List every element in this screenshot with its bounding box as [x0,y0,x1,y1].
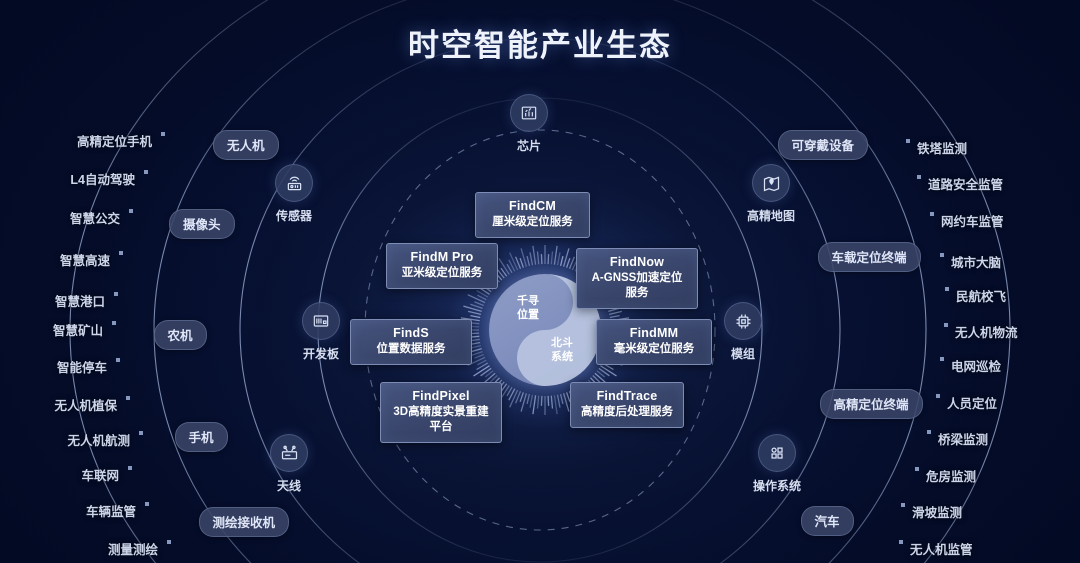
application-label: 智慧矿山 [53,320,103,339]
label-dot-marker [144,170,148,174]
application-label: L4自动驾驶 [70,169,135,188]
application-label: 无人机监管 [910,539,973,558]
icon-node-label: 天线 [252,477,326,494]
icon-node-sensor[interactable]: 传感器 [257,164,331,224]
product-card-findpixel[interactable]: FindPixel3D高精度实景重建平台 [380,382,502,443]
application-label: 无人机植保 [54,395,117,414]
label-dot-marker [944,323,948,327]
icon-node-label: 芯片 [492,137,566,154]
label-dot-marker [145,502,149,506]
product-card-findmm[interactable]: FindMM毫米级定位服务 [596,319,712,365]
icon-node-label: 高精地图 [734,207,808,224]
application-label: 车联网 [81,465,119,484]
label-dot-marker [936,394,940,398]
icon-node-label: 模组 [706,345,780,362]
label-dot-marker [167,540,171,544]
application-label: 民航校飞 [956,286,1006,305]
icon-node-map-pin[interactable]: 高精地图 [734,164,808,224]
application-label: 滑坡监测 [912,502,962,521]
core-top-label: 千寻 位置 [505,294,551,322]
product-card-name: FindS [361,326,461,341]
sensor-icon [275,164,313,202]
application-label: 电网巡检 [951,356,1001,375]
application-label: 无人机物流 [955,322,1018,341]
label-dot-marker [116,358,120,362]
product-card-name: FindMM [607,326,701,341]
core-top-line1: 千寻 [517,295,539,307]
label-dot-marker [906,139,910,143]
module-icon [724,302,762,340]
icon-node-label: 开发板 [284,345,358,362]
product-card-name: FindCM [486,199,579,214]
application-label: 智慧公交 [70,208,120,227]
product-card-name: FindNow [587,255,687,270]
page-title: 时空智能产业生态 [0,20,1080,65]
application-label: 智能停车 [57,357,107,376]
category-pill[interactable]: 可穿戴设备 [778,130,869,160]
core-bottom-line2: 系统 [551,351,573,363]
label-dot-marker [945,287,949,291]
application-label: 道路安全监管 [928,174,1003,193]
category-pill[interactable]: 手机 [175,422,228,452]
product-card-finds[interactable]: FindS位置数据服务 [350,319,472,365]
product-card-desc: A-GNSS加速定位服务 [587,271,687,301]
product-card-name: FindM Pro [397,250,487,265]
label-dot-marker [940,253,944,257]
icon-node-label: 操作系统 [740,477,814,494]
category-pill[interactable]: 汽车 [801,506,854,536]
os-grid-icon [758,434,796,472]
label-dot-marker [112,321,116,325]
category-pill[interactable]: 无人机 [213,130,279,160]
application-label: 网约车监管 [941,211,1004,230]
product-card-findtrace[interactable]: FindTrace高精度后处理服务 [570,382,684,428]
application-label: 城市大脑 [951,252,1001,271]
application-label: 铁塔监测 [917,138,967,157]
application-label: 高精定位手机 [77,131,152,150]
category-pill[interactable]: 高精定位终端 [820,389,923,419]
label-dot-marker [901,503,905,507]
antenna-icon [270,434,308,472]
category-pill[interactable]: 农机 [154,320,207,350]
label-dot-marker [139,431,143,435]
product-card-findnow[interactable]: FindNowA-GNSS加速定位服务 [576,248,698,309]
application-label: 智慧港口 [55,291,105,310]
label-dot-marker [129,209,133,213]
category-pill[interactable]: 摄像头 [169,209,235,239]
icon-node-devboard[interactable]: 开发板 [284,302,358,362]
devboard-icon [302,302,340,340]
icon-node-antenna[interactable]: 天线 [252,434,326,494]
label-dot-marker [161,132,165,136]
chip-icon [510,94,548,132]
label-dot-marker [917,175,921,179]
label-dot-marker [927,430,931,434]
core-bottom-label: 北斗 系统 [539,336,585,364]
product-card-desc: 3D高精度实景重建平台 [391,405,491,435]
icon-node-module[interactable]: 模组 [706,302,780,362]
category-pill[interactable]: 车载定位终端 [818,242,921,272]
application-label: 危房监测 [926,466,976,485]
product-card-desc: 亚米级定位服务 [397,266,487,281]
label-dot-marker [940,357,944,361]
map-pin-icon [752,164,790,202]
product-card-name: FindPixel [391,389,491,404]
label-dot-marker [126,396,130,400]
application-label: 测量测绘 [108,539,158,558]
category-pill[interactable]: 测绘接收机 [199,507,290,537]
icon-node-os-grid[interactable]: 操作系统 [740,434,814,494]
product-card-findm-pro[interactable]: FindM Pro亚米级定位服务 [386,243,498,289]
core-bottom-line1: 北斗 [551,337,573,349]
product-card-desc: 厘米级定位服务 [486,215,579,230]
product-card-desc: 位置数据服务 [361,342,461,357]
core-top-line2: 位置 [517,309,539,321]
label-dot-marker [930,212,934,216]
product-card-name: FindTrace [581,389,673,404]
label-dot-marker [119,251,123,255]
product-card-desc: 高精度后处理服务 [581,405,673,420]
icon-node-chip[interactable]: 芯片 [492,94,566,154]
application-label: 桥梁监测 [938,429,988,448]
application-label: 智慧高速 [60,250,110,269]
icon-node-label: 传感器 [257,207,331,224]
label-dot-marker [114,292,118,296]
application-label: 人员定位 [947,393,997,412]
application-label: 车辆监管 [86,501,136,520]
infographic-canvas: 时空智能产业生态 千寻 位置 北斗 系统 FindCM厘米级定位服务FindM … [0,0,1080,563]
application-label: 无人机航测 [67,430,130,449]
product-card-desc: 毫米级定位服务 [607,342,701,357]
label-dot-marker [899,540,903,544]
label-dot-marker [915,467,919,471]
label-dot-marker [128,466,132,470]
product-card-findcm[interactable]: FindCM厘米级定位服务 [475,192,590,238]
